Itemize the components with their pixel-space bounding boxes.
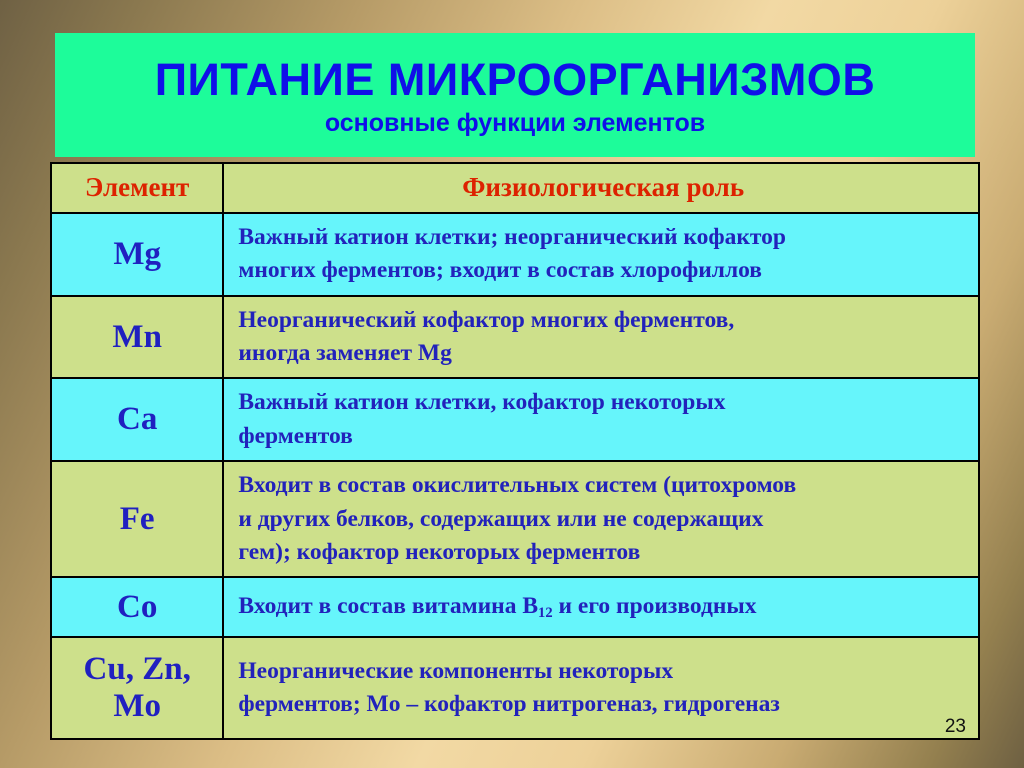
slide-canvas: ПИТАНИЕ МИКРООРГАНИЗМОВ основные функции…	[0, 0, 1024, 768]
table-row: Fe Входит в состав окислительных систем …	[51, 461, 979, 577]
role-cell: Входит в состав витамина B12 и его произ…	[223, 577, 979, 637]
element-symbol: Ca	[117, 401, 157, 438]
role-line: Важный катион клетки; неорганический коф…	[238, 221, 968, 254]
element-symbol: Mg	[113, 236, 161, 273]
table-row: Mn Неорганический кофактор многих фермен…	[51, 296, 979, 379]
role-line: Неорганический кофактор многих ферментов…	[238, 304, 968, 337]
title-banner: ПИТАНИЕ МИКРООРГАНИЗМОВ основные функции…	[55, 33, 975, 157]
element-cell: Co	[51, 577, 223, 637]
role-line: Входит в состав витамина B12 и его произ…	[238, 590, 968, 624]
page-title: ПИТАНИЕ МИКРООРГАНИЗМОВ	[155, 57, 876, 103]
role-line: ферментов; Mo – кофактор нитрогеназ, гид…	[238, 688, 968, 721]
role-line: гем); кофактор некоторых ферментов	[238, 536, 968, 569]
role-line: Неорганические компоненты некоторых	[238, 655, 968, 688]
element-symbol-line: Cu, Zn,	[84, 651, 191, 688]
header-cell-element: Элемент	[51, 163, 223, 213]
role-text-suffix: и его производных	[553, 593, 757, 619]
role-cell: Важный катион клетки; неорганический коф…	[223, 213, 979, 296]
element-symbol: Mn	[112, 319, 162, 356]
role-line: Важный катион клетки, кофактор некоторых	[238, 386, 968, 419]
header-label-element: Элемент	[85, 173, 189, 203]
element-role-table: Элемент Физиологическая роль Mg	[50, 162, 980, 740]
role-text-prefix: Входит в состав витамина B	[238, 593, 538, 619]
table-row: Co Входит в состав витамина B12 и его пр…	[51, 577, 979, 637]
role-cell: Входит в состав окислительных систем (ци…	[223, 461, 979, 577]
element-symbol-line: Mo	[113, 688, 161, 725]
role-cell: Неорганические компоненты некоторых ферм…	[223, 637, 979, 739]
element-symbol: Fe	[120, 501, 155, 538]
table-row: Ca Важный катион клетки, кофактор некото…	[51, 378, 979, 461]
role-line: Входит в состав окислительных систем (ци…	[238, 469, 968, 502]
role-cell: Важный катион клетки, кофактор некоторых…	[223, 378, 979, 461]
element-cell: Fe	[51, 461, 223, 577]
role-line: иногда заменяет Mg	[238, 337, 968, 370]
element-symbol: Co	[117, 589, 157, 626]
element-cell: Mn	[51, 296, 223, 379]
element-cell: Ca	[51, 378, 223, 461]
role-line: ферментов	[238, 420, 968, 453]
vitamin-subscript: 12	[538, 605, 553, 621]
element-cell: Mg	[51, 213, 223, 296]
element-cell: Cu, Zn, Mo	[51, 637, 223, 739]
role-line: и других белков, содержащих или не содер…	[238, 503, 968, 536]
table-row: Cu, Zn, Mo Неорганические компоненты нек…	[51, 637, 979, 739]
role-cell: Неорганический кофактор многих ферментов…	[223, 296, 979, 379]
header-cell-role: Физиологическая роль	[223, 163, 979, 213]
header-label-role: Физиологическая роль	[238, 173, 968, 203]
role-line: многих ферментов; входит в состав хлороф…	[238, 254, 968, 287]
table-row: Mg Важный катион клетки; неорганический …	[51, 213, 979, 296]
page-subtitle: основные функции элементов	[325, 110, 705, 138]
page-number: 23	[945, 717, 966, 736]
table-header-row: Элемент Физиологическая роль	[51, 163, 979, 213]
